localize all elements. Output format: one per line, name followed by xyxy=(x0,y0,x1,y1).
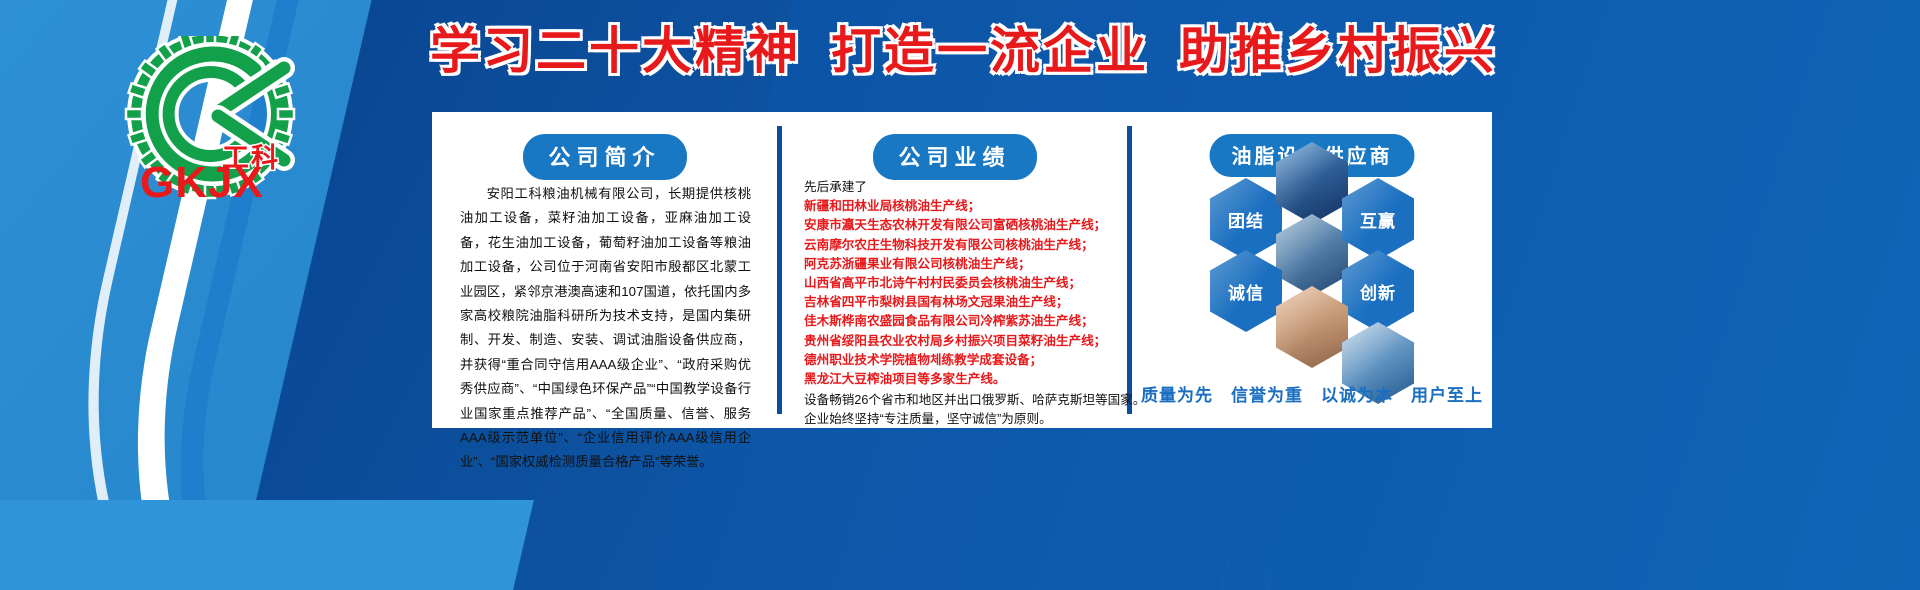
performance-tail-line: 企业始终坚持“专注质量，坚守诚信”为原则。 xyxy=(804,410,1113,429)
list-item: 贵州省绥阳县农业农村局乡村振兴项目菜籽油生产线； xyxy=(804,332,1113,351)
list-item: 吉林省四平市梨树县国有林场文冠果油生产线； xyxy=(804,293,1113,312)
hexagon-graphic-group: 团结 互赢 创新 诚信 xyxy=(1132,170,1492,370)
hex-label: 团结 xyxy=(1228,207,1264,232)
company-performance-content: 先后承建了 新疆和田林业局核桃油生产线； 安康市瀛天生态农林开发有限公司富硒核桃… xyxy=(804,178,1113,430)
list-item: 新疆和田林业局核桃油生产线； xyxy=(804,197,1113,216)
slogan-part: 信誉为重 xyxy=(1231,386,1303,405)
list-item: 阿克苏浙疆果业有限公司核桃油生产线； xyxy=(804,255,1113,274)
hex-image-handshake xyxy=(1276,286,1348,368)
decor-bottom-left-strip xyxy=(0,500,534,590)
headline-part-2: 打造一流企业 xyxy=(831,23,1149,79)
company-profile-text: 安阳工科粮油机械有限公司，长期提供核桃油加工设备，菜籽油加工设备，亚麻油加工设备… xyxy=(460,182,751,475)
panel-supplier: 油脂设备供应商 团结 互赢 创新 诚信 质量为先信誉为重以诚为本用户至上 xyxy=(1132,112,1492,428)
slogan-part: 以诚为本 xyxy=(1321,386,1393,405)
hex-label: 创新 xyxy=(1360,279,1396,304)
hex-tile-innovation: 创新 xyxy=(1342,250,1414,332)
performance-list: 新疆和田林业局核桃油生产线； 安康市瀛天生态农林开发有限公司富硒核桃油生产线； … xyxy=(804,197,1113,389)
list-item: 黑龙江大豆榨油项目等多家生产线。 xyxy=(804,370,1113,389)
page-title: 学习二十大精神打造一流企业助推乡村振兴 xyxy=(430,22,1490,80)
panel-title-company-profile: 公司简介 xyxy=(522,134,686,180)
content-board: 公司简介 安阳工科粮油机械有限公司，长期提供核桃油加工设备，菜籽油加工设备，亚麻… xyxy=(432,112,1492,428)
hex-tile-integrity: 诚信 xyxy=(1210,250,1282,332)
performance-lead: 先后承建了 xyxy=(804,178,1113,197)
list-item: 佳木斯桦南农盛园食品有限公司冷榨紫苏油生产线； xyxy=(804,312,1113,331)
performance-tail-line: 设备畅销26个省市和地区并出口俄罗斯、哈萨克斯坦等国家。 xyxy=(804,391,1113,410)
slogan-part: 用户至上 xyxy=(1411,386,1483,405)
hex-image-equipment xyxy=(1276,214,1348,296)
panel-title-company-performance: 公司业绩 xyxy=(872,134,1036,180)
list-item: 德州职业技术学院植物체练教学成套设备； xyxy=(804,351,1113,370)
list-item: 山西省高平市北诗午村村民委员会核桃油生产线； xyxy=(804,274,1113,293)
headline-part-1: 学习二十大精神 xyxy=(430,23,801,79)
logo-latin-name: GKJX xyxy=(140,158,264,208)
panel-company-profile: 公司简介 安阳工科粮油机械有限公司，长期提供核桃油加工设备，菜籽油加工设备，亚麻… xyxy=(432,112,777,428)
slogan-part: 质量为先 xyxy=(1141,386,1213,405)
list-item: 云南摩尔农庄生物科技开发有限公司核桃油生产线； xyxy=(804,236,1113,255)
hex-tile-mutual-win: 互赢 xyxy=(1342,178,1414,260)
panel-company-performance: 公司业绩 先后承建了 新疆和田林业局核桃油生产线； 安康市瀛天生态农林开发有限公… xyxy=(782,112,1127,428)
performance-tail: 设备畅销26个省市和地区并出口俄罗斯、哈萨克斯坦等国家。 企业始终坚持“专注质量… xyxy=(804,391,1113,429)
hex-label: 诚信 xyxy=(1228,279,1264,304)
hex-label: 互赢 xyxy=(1360,207,1396,232)
banner-canvas: 工科 GKJX 学习二十大精神打造一流企业助推乡村振兴 公司简介 安阳工科粮油机… xyxy=(0,0,1920,590)
list-item: 安康市瀛天生态农林开发有限公司富硒核桃油生产线； xyxy=(804,216,1113,235)
supplier-slogan: 质量为先信誉为重以诚为本用户至上 xyxy=(1132,381,1492,406)
headline-part-3: 助推乡村振兴 xyxy=(1179,23,1497,79)
hex-image-factory xyxy=(1276,142,1348,224)
hex-tile-unity: 团结 xyxy=(1210,178,1282,260)
